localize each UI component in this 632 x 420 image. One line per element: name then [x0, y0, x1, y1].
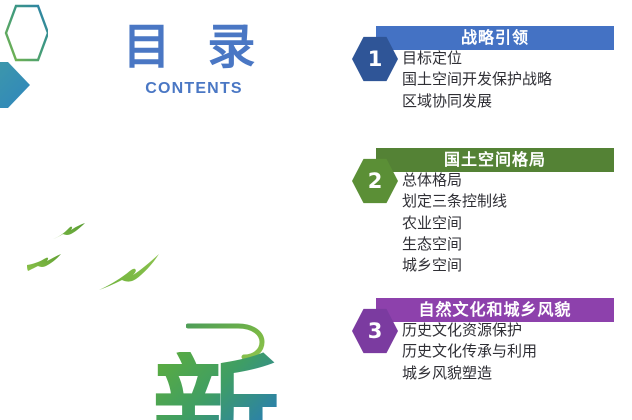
section-heading: 国土空间格局: [444, 152, 546, 168]
title-english: CONTENTS: [86, 80, 302, 98]
section-header-bar: 战略引领: [376, 26, 614, 50]
section-item-list: 目标定位 国土空间开发保护战略 区域协同发展: [402, 48, 632, 112]
list-item[interactable]: 城乡风貌塑造: [402, 363, 632, 384]
section-number-badge: 1: [352, 36, 404, 82]
section-number: 3: [352, 308, 398, 354]
section-number-badge: 2: [352, 158, 404, 204]
list-item[interactable]: 历史文化资源保护: [402, 320, 632, 341]
section-item-list: 总体格局 划定三条控制线 农业空间 生态空间 城乡空间: [402, 170, 632, 276]
list-item[interactable]: 国土空间开发保护战略: [402, 69, 632, 90]
bird-icon: [26, 252, 62, 274]
section-heading: 自然文化和城乡风貌: [418, 302, 571, 318]
list-item[interactable]: 总体格局: [402, 170, 632, 191]
slide-canvas: 新 目 录 CONTENTS 战略引领 1 目标定位 国土空间开发保护战略 区域…: [0, 0, 632, 420]
title-chinese: 目 录: [86, 22, 302, 74]
list-item[interactable]: 历史文化传承与利用: [402, 341, 632, 362]
calligraphy-character: 新: [152, 352, 282, 420]
section-heading: 战略引领: [461, 30, 529, 46]
list-item[interactable]: 区域协同发展: [402, 91, 632, 112]
section-number: 2: [352, 158, 398, 204]
section-item-list: 历史文化资源保护 历史文化传承与利用 城乡风貌塑造: [402, 320, 632, 384]
section-header-bar: 国土空间格局: [376, 148, 614, 172]
list-item[interactable]: 城乡空间: [402, 255, 632, 276]
section-number: 1: [352, 36, 398, 82]
page-title: 目 录 CONTENTS: [86, 22, 302, 98]
section-header-bar: 自然文化和城乡风貌: [376, 298, 614, 322]
bird-icon: [52, 222, 86, 242]
list-item[interactable]: 目标定位: [402, 48, 632, 69]
table-of-contents: 战略引领 1 目标定位 国土空间开发保护战略 区域协同发展 国土空间格局 2 总…: [352, 0, 632, 420]
list-item[interactable]: 划定三条控制线: [402, 191, 632, 212]
hexagon-outline-icon: [2, 4, 48, 62]
list-item[interactable]: 农业空间: [402, 213, 632, 234]
bird-icon: [98, 252, 160, 292]
arrow-shape-icon: [0, 62, 30, 108]
list-item[interactable]: 生态空间: [402, 234, 632, 255]
section-number-badge: 3: [352, 308, 404, 354]
